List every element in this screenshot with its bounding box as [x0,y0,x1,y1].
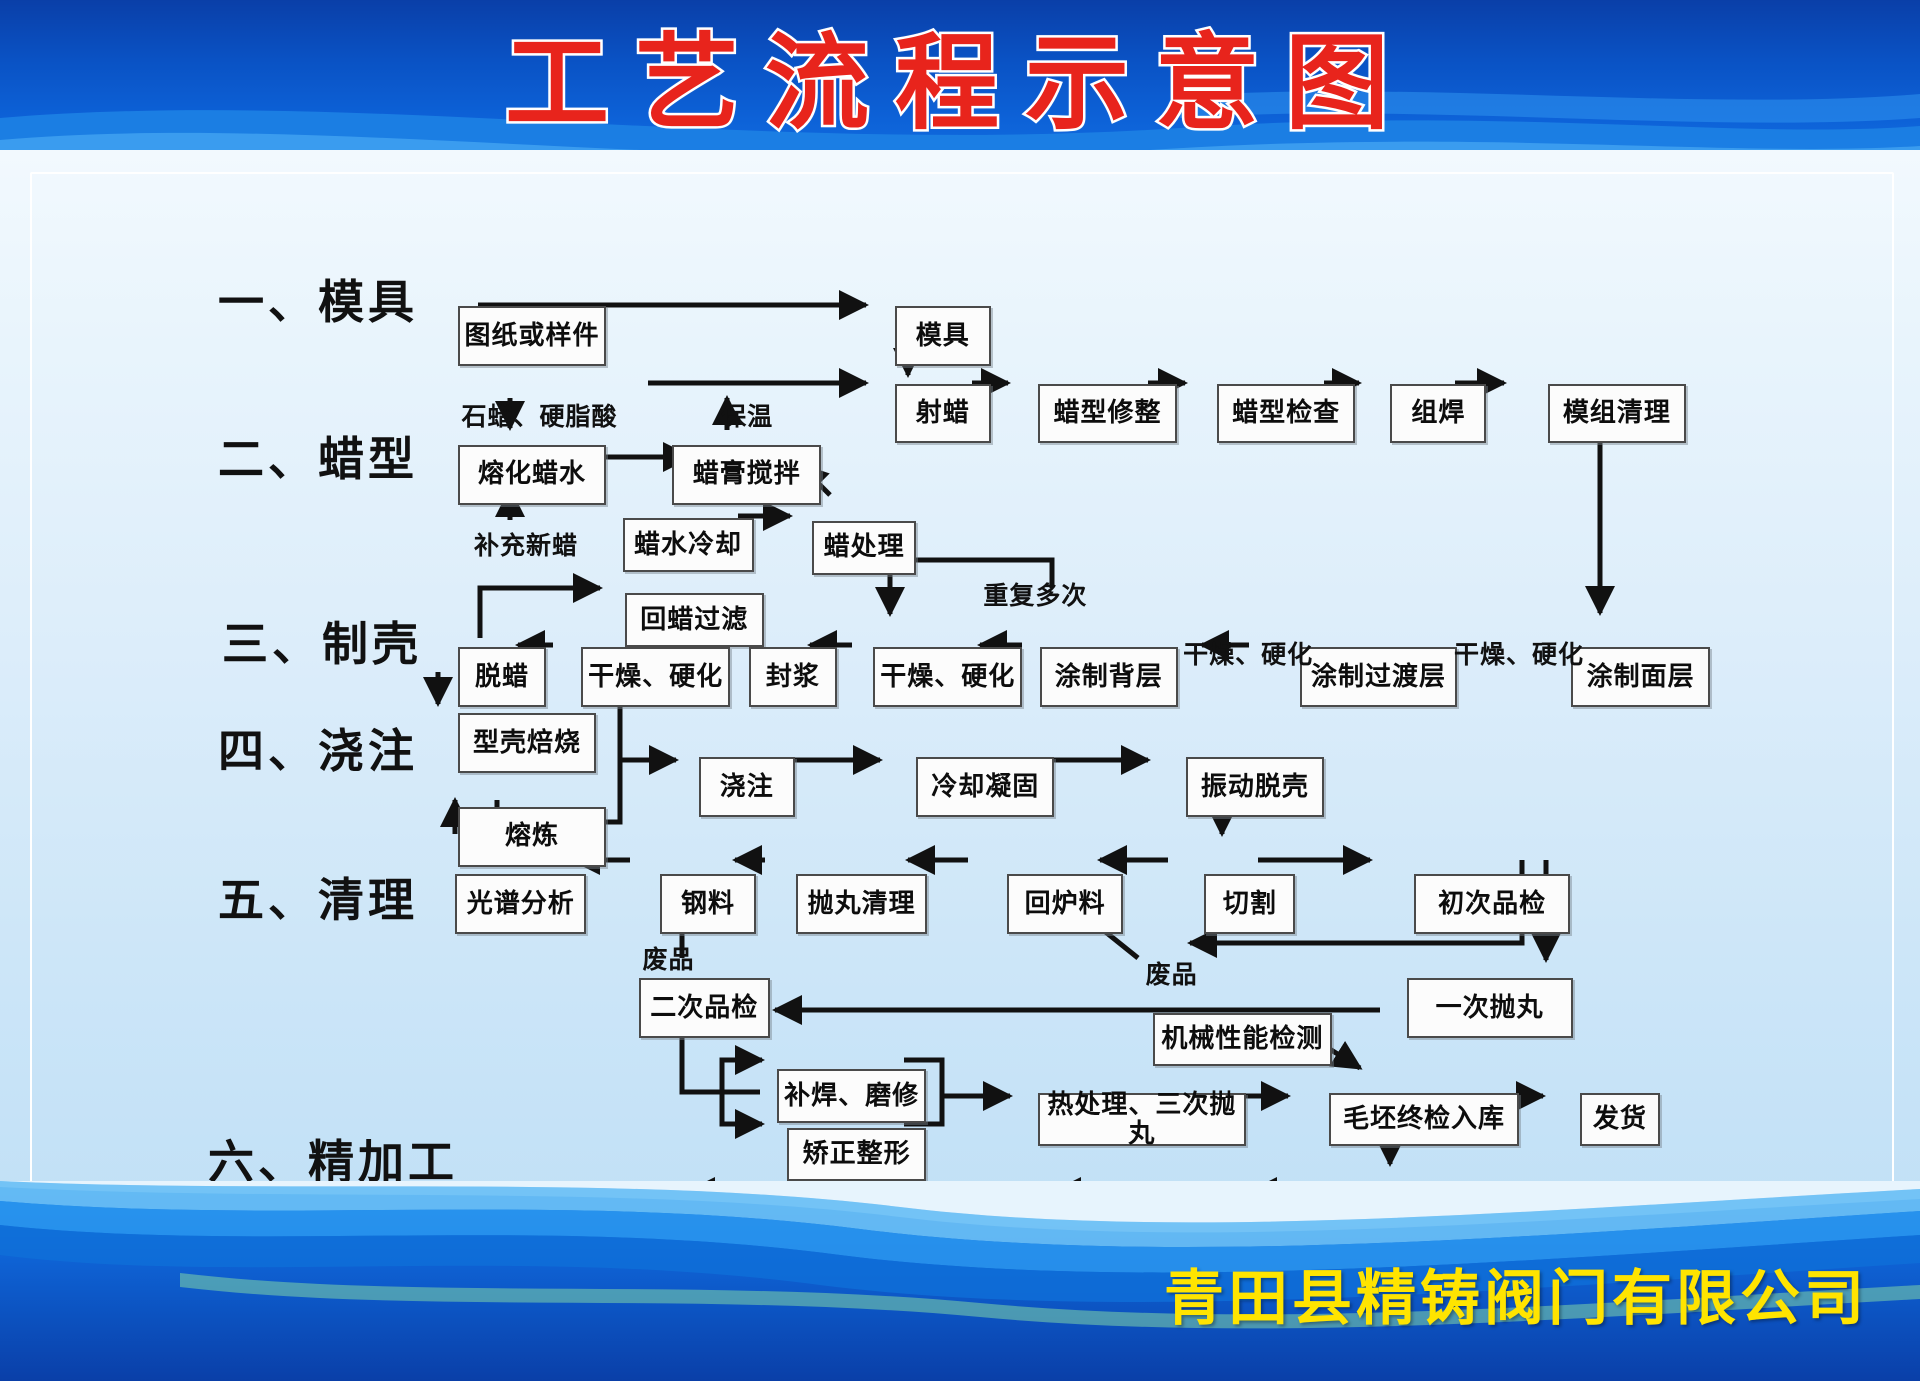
flow-node-n16: 干燥、硬化 [873,647,1022,707]
section-label-pouring: 四、浇注 [218,715,418,781]
section-label-mould: 一、模具 [218,266,418,332]
flow-node-n08: 熔化蜡水 [458,445,607,505]
flow-node-n24: 熔炼 [458,807,607,867]
flow-node-n36: 热处理、三次抛丸 [1038,1093,1245,1147]
flow-node-n04: 蜡型修整 [1038,384,1177,444]
flow-node-n18: 涂制过渡层 [1300,647,1456,707]
edge-label-e1: 石蜡、硬脂酸 [461,397,617,433]
section-label-waxmodel: 二、蜡型 [218,423,418,489]
company-name: 青田县精铸阀门有限公司 [1164,1250,1868,1337]
flow-node-n22: 冷却凝固 [916,757,1055,817]
flow-node-n13: 脱蜡 [458,647,547,707]
edge-label-e2: 保温 [721,397,773,433]
section-label-cleaning: 五、清理 [218,864,418,930]
flow-node-n05: 蜡型检查 [1217,384,1356,444]
edge-label-e3: 补充新蜡 [474,526,578,562]
flow-node-n27: 抛丸清理 [796,874,927,934]
edge-label-e6: 干燥、硬化 [1454,635,1584,671]
flow-node-n33: 机械性能检测 [1153,1013,1332,1067]
flow-node-n31: 二次品检 [639,978,770,1038]
flow-node-n03: 射蜡 [895,384,991,444]
flow-node-n02: 模具 [895,306,991,366]
flow-node-n23: 振动脱壳 [1186,757,1325,817]
flow-node-n09: 蜡膏搅拌 [672,445,821,505]
flow-node-n06: 组焊 [1390,384,1486,444]
flow-node-n10: 蜡水冷却 [623,518,754,572]
flow-node-n28: 回炉料 [1007,874,1123,934]
bottom-banner: 青田县精铸阀门有限公司 [0,1181,1920,1381]
flow-node-n19: 涂制面层 [1571,647,1710,707]
edge-label-e4: 重复多次 [983,576,1087,612]
edge-label-e8: 废品 [1146,955,1198,991]
flow-node-n32: 一次抛丸 [1407,978,1573,1038]
flow-node-n30: 初次品检 [1414,874,1570,934]
flow-node-n38: 发货 [1580,1093,1660,1147]
flow-node-n34: 补焊、磨修 [777,1069,926,1123]
flow-node-n01: 图纸或样件 [458,306,607,366]
flow-node-n15: 封浆 [749,647,838,707]
flow-node-n17: 涂制背层 [1040,647,1179,707]
flow-node-n07: 模组清理 [1548,384,1687,444]
section-label-shell: 三、制壳 [222,608,422,674]
poster-root: 工艺流程示意图 一、模具 二、蜡型 三、制壳 四、浇注 五、清理 六、精加工 [0,0,1920,1381]
flow-node-n21: 浇注 [699,757,795,817]
flow-node-n11: 蜡处理 [812,521,916,575]
flow-node-n35: 矫正整形 [787,1128,926,1182]
flow-node-n25: 光谱分析 [455,874,586,934]
flow-node-n37: 毛坯终检入库 [1329,1093,1519,1147]
page-title: 工艺流程示意图 [505,0,1415,149]
flow-node-n29: 切割 [1204,874,1295,934]
flow-node-n26: 钢料 [660,874,756,934]
edge-label-e5: 干燥、硬化 [1183,635,1313,671]
edge-label-e7: 废品 [642,940,694,976]
flow-node-n14: 干燥、硬化 [581,647,730,707]
flow-node-n20: 型壳焙烧 [458,713,597,773]
flow-node-n12: 回蜡过滤 [625,593,764,647]
